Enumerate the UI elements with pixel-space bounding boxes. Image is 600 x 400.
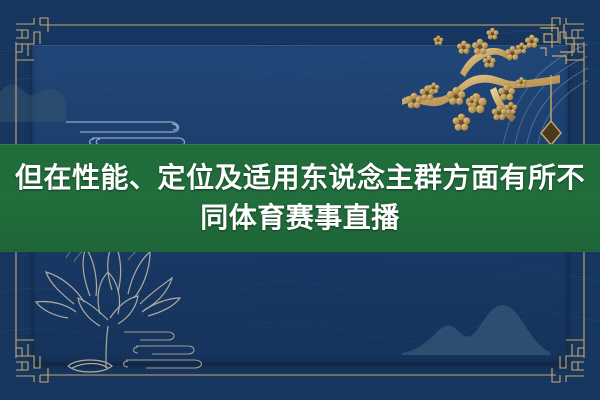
band-top-edge — [0, 144, 600, 145]
headline-band: 但在性能、定位及适用东说念主群方面有所不同体育赛事直播 — [0, 144, 600, 252]
poster-canvas: 但在性能、定位及适用东说念主群方面有所不同体育赛事直播 — [0, 0, 600, 400]
page-title: 但在性能、定位及适用东说念主群方面有所不同体育赛事直播 — [5, 158, 595, 238]
